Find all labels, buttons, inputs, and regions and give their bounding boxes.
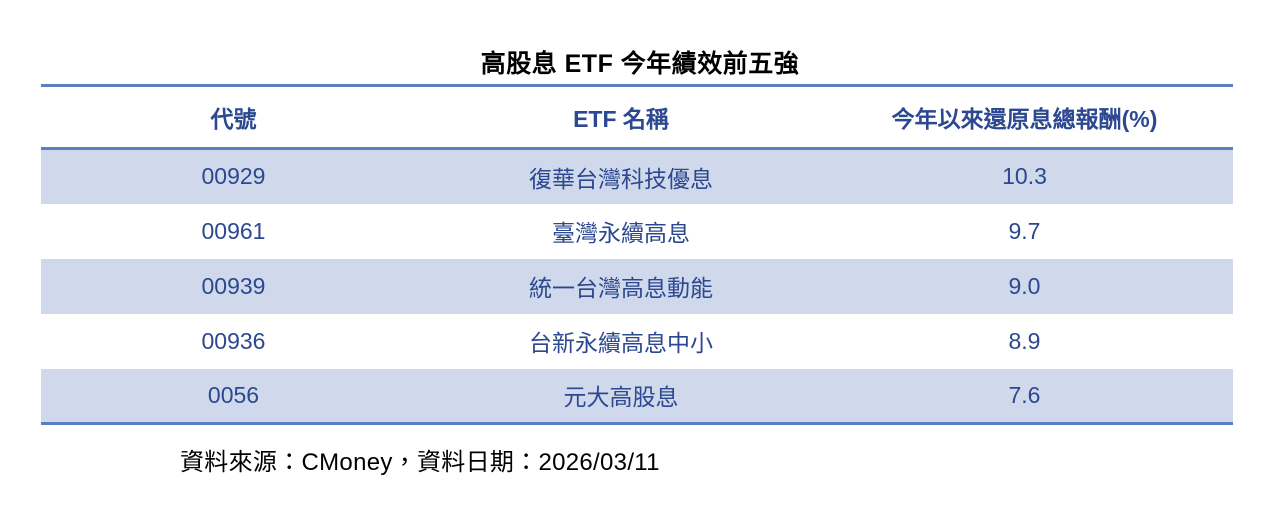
- cell-code: 0056: [41, 369, 426, 424]
- column-header-name: ETF 名稱: [426, 86, 816, 149]
- cell-value: 8.9: [816, 314, 1233, 369]
- cell-name: 台新永續高息中小: [426, 314, 816, 369]
- table-body: 00929 復華台灣科技優息 10.3 00961 臺灣永續高息 9.7 009…: [41, 149, 1233, 424]
- source-note: 資料來源：CMoney，資料日期：2026/03/11: [180, 442, 660, 477]
- table-head: 代號 ETF 名稱 今年以來還原息總報酬(%): [41, 86, 1233, 149]
- cell-value: 7.6: [816, 369, 1233, 424]
- cell-value: 10.3: [816, 149, 1233, 204]
- etf-performance-table: 代號 ETF 名稱 今年以來還原息總報酬(%) 00929 復華台灣科技優息 1…: [41, 84, 1233, 425]
- table-row: 00939 統一台灣高息動能 9.0: [41, 259, 1233, 314]
- cell-code: 00961: [41, 204, 426, 259]
- page-root: 高股息 ETF 今年績效前五強 代號 ETF 名稱 今年以來還原息總報酬(%) …: [0, 0, 1280, 526]
- cell-code: 00936: [41, 314, 426, 369]
- cell-code: 00939: [41, 259, 426, 314]
- table-header-row: 代號 ETF 名稱 今年以來還原息總報酬(%): [41, 86, 1233, 149]
- cell-name: 臺灣永續高息: [426, 204, 816, 259]
- table: 代號 ETF 名稱 今年以來還原息總報酬(%) 00929 復華台灣科技優息 1…: [41, 84, 1233, 425]
- column-header-code: 代號: [41, 86, 426, 149]
- cell-name: 復華台灣科技優息: [426, 149, 816, 204]
- table-row: 00929 復華台灣科技優息 10.3: [41, 149, 1233, 204]
- cell-name: 統一台灣高息動能: [426, 259, 816, 314]
- cell-name: 元大高股息: [426, 369, 816, 424]
- table-row: 00961 臺灣永續高息 9.7: [41, 204, 1233, 259]
- page-title: 高股息 ETF 今年績效前五強: [0, 44, 1280, 80]
- cell-code: 00929: [41, 149, 426, 204]
- column-header-value: 今年以來還原息總報酬(%): [816, 86, 1233, 149]
- cell-value: 9.0: [816, 259, 1233, 314]
- cell-value: 9.7: [816, 204, 1233, 259]
- table-row: 00936 台新永續高息中小 8.9: [41, 314, 1233, 369]
- table-row: 0056 元大高股息 7.6: [41, 369, 1233, 424]
